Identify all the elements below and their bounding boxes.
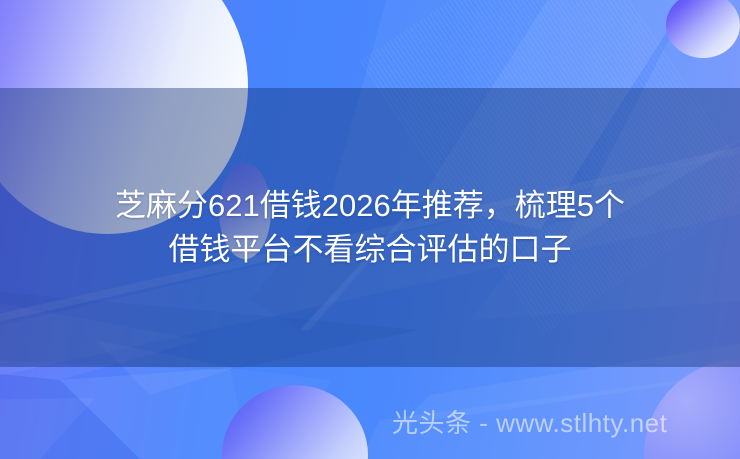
page-title: 芝麻分621借钱2026年推荐，梳理5个 借钱平台不看综合评估的口子 — [0, 184, 740, 272]
site-watermark: 光头条 - www.stlhty.net — [392, 406, 667, 440]
article-cover-image: 芝麻分621借钱2026年推荐，梳理5个 借钱平台不看综合评估的口子 光头条 -… — [0, 0, 740, 459]
